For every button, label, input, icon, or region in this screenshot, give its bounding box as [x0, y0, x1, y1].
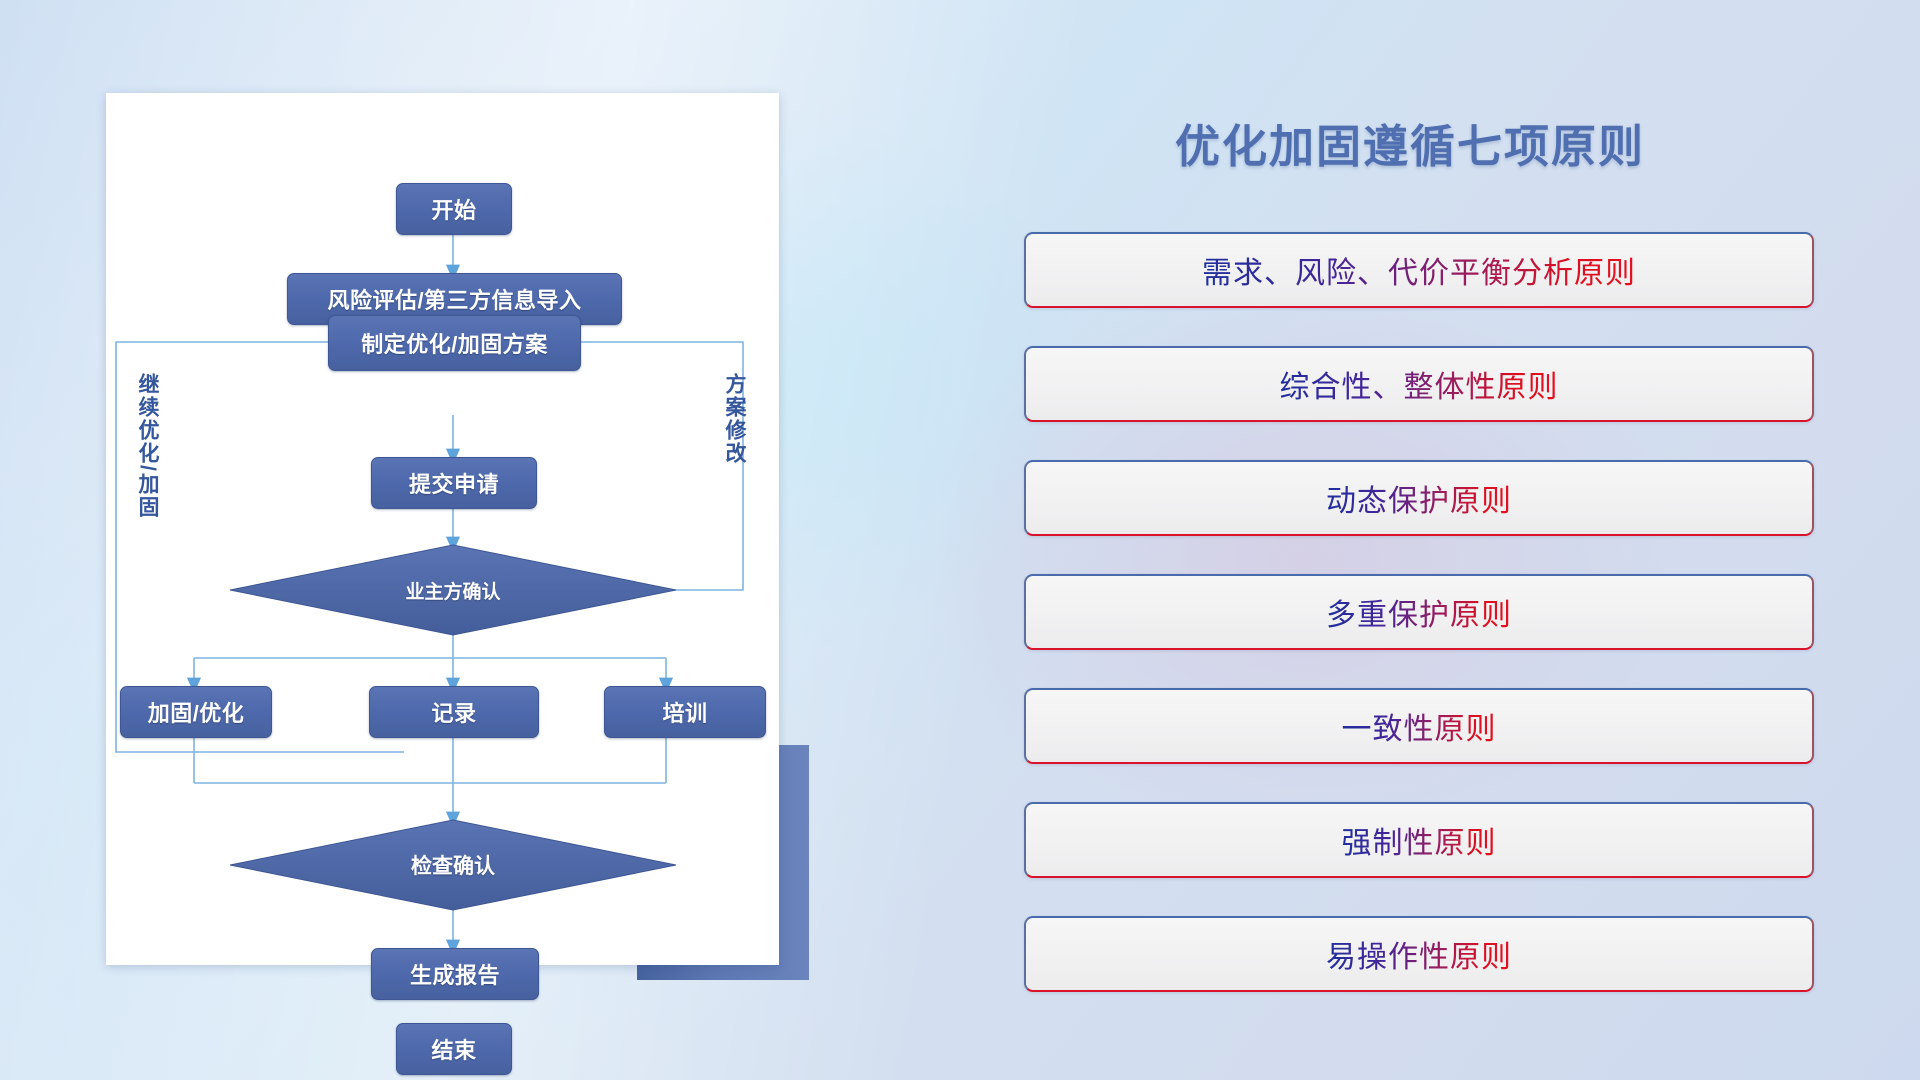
- principles-list: 需求、风险、代价平衡分析原则 综合性、整体性原则 动态保护原则 多重保护原则 一…: [1024, 232, 1814, 1030]
- principle-card-6-label: 强制性原则: [1342, 818, 1497, 862]
- principle-card-7-label: 易操作性原则: [1326, 932, 1512, 976]
- principle-card-4[interactable]: 多重保护原则: [1024, 574, 1814, 650]
- flow-node-risk-assessment-label: 风险评估/第三方信息导入: [327, 283, 581, 315]
- flow-edge-label-plan-revision: 方案修改: [719, 373, 749, 465]
- principle-card-2-label: 综合性、整体性原则: [1280, 362, 1559, 406]
- flow-node-training-label: 培训: [662, 696, 707, 728]
- principle-card-3-label: 动态保护原则: [1326, 476, 1512, 520]
- flow-node-submit-application-label: 提交申请: [409, 467, 499, 499]
- flow-node-record-label: 记录: [431, 696, 476, 728]
- flow-node-owner-confirm[interactable]: 业主方确认: [353, 570, 553, 610]
- principle-card-1-label: 需求、风险、代价平衡分析原则: [1202, 248, 1636, 292]
- flow-node-generate-report-label: 生成报告: [410, 958, 500, 990]
- flow-node-submit-application[interactable]: 提交申请: [371, 457, 537, 509]
- flow-edge-label-continue-optimize-text: 继续优化/加固: [136, 373, 159, 519]
- flow-node-make-plan-label: 制定优化/加固方案: [361, 327, 548, 359]
- flow-node-check-confirm[interactable]: 检查确认: [353, 845, 553, 885]
- right-panel-title: 优化加固遵循七项原则: [1030, 110, 1790, 175]
- flowchart-card: 开始 风险评估/第三方信息导入 制定优化/加固方案 提交申请 业主方确认 加固/…: [106, 93, 779, 965]
- principle-card-4-label: 多重保护原则: [1326, 590, 1512, 634]
- principle-card-1[interactable]: 需求、风险、代价平衡分析原则: [1024, 232, 1814, 308]
- principle-card-5[interactable]: 一致性原则: [1024, 688, 1814, 764]
- flow-node-record[interactable]: 记录: [369, 686, 539, 738]
- principle-card-3[interactable]: 动态保护原则: [1024, 460, 1814, 536]
- flow-node-end[interactable]: 结束: [396, 1023, 512, 1075]
- flow-node-owner-confirm-label: 业主方确认: [405, 577, 500, 604]
- flow-node-end-label: 结束: [431, 1033, 476, 1065]
- flow-node-start-label: 开始: [431, 193, 476, 225]
- principle-card-2[interactable]: 综合性、整体性原则: [1024, 346, 1814, 422]
- flow-node-reinforce-optimize[interactable]: 加固/优化: [120, 686, 272, 738]
- flow-node-check-confirm-label: 检查确认: [411, 850, 495, 880]
- flow-node-start[interactable]: 开始: [396, 183, 512, 235]
- flow-edge-label-continue-optimize: 继续优化/加固: [132, 373, 162, 519]
- flow-node-training[interactable]: 培训: [604, 686, 766, 738]
- principle-card-7[interactable]: 易操作性原则: [1024, 916, 1814, 992]
- flow-node-generate-report[interactable]: 生成报告: [371, 948, 539, 1000]
- flow-edge-label-plan-revision-text: 方案修改: [723, 373, 746, 465]
- principle-card-6[interactable]: 强制性原则: [1024, 802, 1814, 878]
- flow-node-make-plan[interactable]: 制定优化/加固方案: [328, 315, 581, 371]
- flow-node-reinforce-optimize-label: 加固/优化: [148, 696, 245, 728]
- principle-card-5-label: 一致性原则: [1342, 704, 1497, 748]
